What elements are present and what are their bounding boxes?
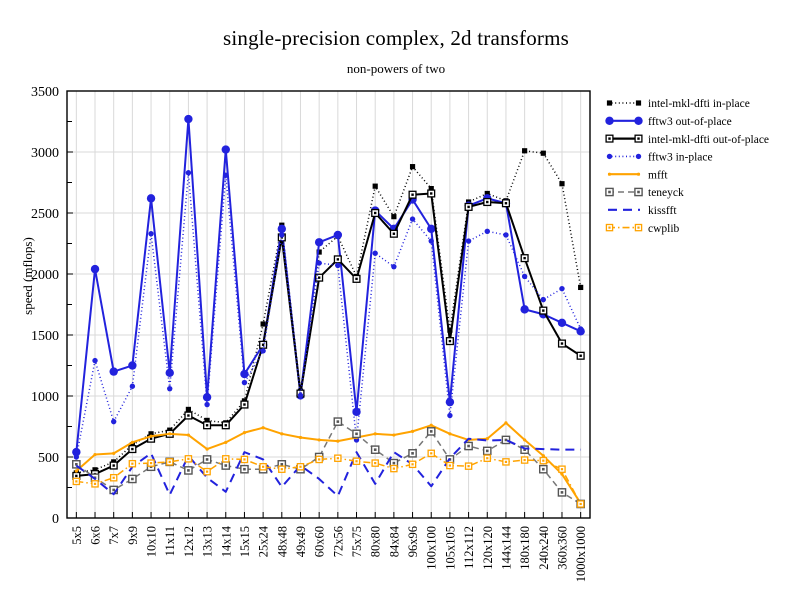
legend-item-0[interactable]: intel-mkl-dfti in-place (607, 98, 750, 110)
x-tick-label: 180x180 (518, 526, 532, 570)
y-tick-label: 3000 (31, 146, 59, 161)
gridlines (67, 91, 590, 518)
legend-label: fftw3 in-place (648, 152, 713, 164)
x-tick-label: 144x144 (499, 525, 513, 570)
x-tick-label: 100x100 (425, 526, 439, 570)
x-tick-label: 7x7 (107, 526, 121, 545)
series-7 (73, 450, 584, 507)
x-tick-label: 12x12 (182, 526, 196, 557)
y-tick-label: 1000 (31, 390, 59, 405)
x-tick-label: 1000x1000 (574, 526, 588, 582)
x-tick-label: 80x80 (369, 526, 383, 557)
legend-label: cwplib (648, 223, 680, 235)
x-tick-label: 10x10 (145, 526, 159, 557)
x-tick-label: 14x14 (219, 525, 233, 557)
x-tick-label: 120x120 (481, 526, 495, 570)
y-tick-label: 1500 (31, 329, 59, 344)
plot-frame (67, 91, 590, 518)
legend-label: kissfft (648, 205, 677, 217)
legend-item-2[interactable]: intel-mkl-dfti out-of-place (606, 134, 769, 146)
legend-item-5[interactable]: teneyck (606, 187, 684, 199)
series-1 (72, 115, 585, 456)
x-tick-label: 11x11 (163, 526, 177, 556)
x-tick-label: 96x96 (406, 526, 420, 557)
x-axis-ticks: 5x56x67x79x910x1011x1112x1213x1314x1415x… (70, 512, 588, 582)
x-tick-label: 72x56 (331, 526, 345, 557)
chart-container: single-precision complex, 2d transforms … (0, 0, 792, 612)
legend-item-1[interactable]: fftw3 out-of-place (605, 116, 731, 128)
x-tick-label: 25x24 (257, 525, 271, 557)
legend-item-7[interactable]: cwplib (606, 223, 679, 235)
x-tick-label: 5x5 (70, 526, 84, 545)
x-tick-label: 13x13 (201, 526, 215, 557)
y-tick-label: 500 (38, 451, 59, 466)
x-tick-label: 105x105 (443, 526, 457, 570)
x-tick-label: 60x60 (313, 526, 327, 557)
x-tick-label: 48x48 (275, 526, 289, 557)
legend-item-3[interactable]: fftw3 in-place (607, 152, 713, 164)
y-tick-label: 3500 (31, 85, 59, 100)
x-tick-label: 15x15 (238, 526, 252, 557)
legend: intel-mkl-dfti in-placefftw3 out-of-plac… (605, 98, 769, 235)
legend-label: mfft (648, 169, 668, 181)
data-series-layer (72, 115, 585, 508)
y-tick-label: 2000 (31, 268, 59, 283)
x-tick-label: 49x49 (294, 526, 308, 557)
x-tick-label: 6x6 (89, 526, 103, 545)
x-tick-label: 75x75 (350, 526, 364, 557)
legend-item-4[interactable]: mfft (608, 169, 668, 181)
x-tick-label: 84x84 (387, 525, 401, 557)
legend-label: intel-mkl-dfti in-place (648, 98, 750, 110)
legend-item-6[interactable]: kissfft (608, 205, 677, 217)
legend-label: fftw3 out-of-place (648, 116, 732, 128)
legend-label: intel-mkl-dfti out-of-place (648, 134, 769, 146)
y-tick-label: 2500 (31, 207, 59, 222)
plot-svg: 0500100015002000250030003500 5x56x67x79x… (0, 0, 792, 612)
y-tick-label: 0 (52, 512, 59, 527)
x-tick-label: 9x9 (126, 526, 140, 545)
x-tick-label: 360x360 (555, 526, 569, 570)
x-tick-label: 240x240 (537, 526, 551, 570)
legend-label: teneyck (648, 187, 684, 199)
x-tick-label: 112x112 (462, 526, 476, 569)
